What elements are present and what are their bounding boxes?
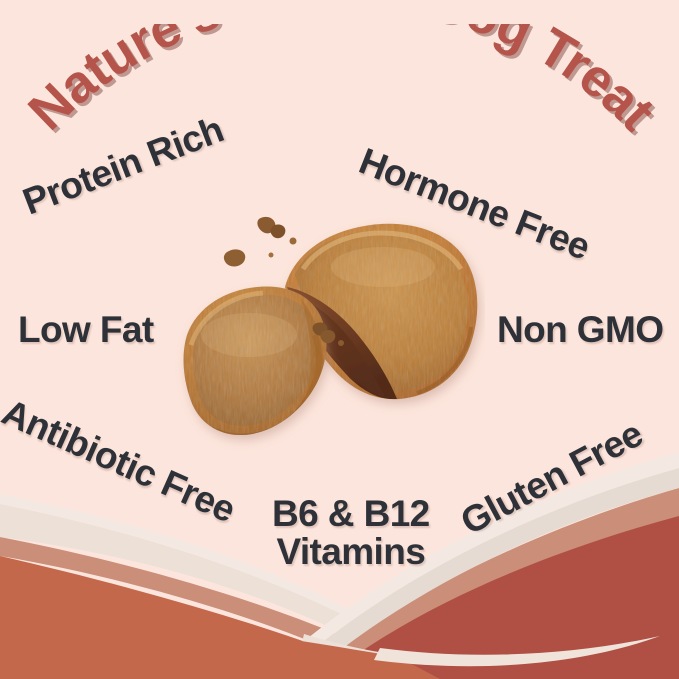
crumb-7 [338,340,344,346]
feature-label-vitamins-line1: B6 & B12 [272,495,430,533]
broken-dog-treat-photo [175,195,485,485]
band-center-ribbon [300,634,640,678]
product-infographic-poster: Nature's Perfect Dog Treat Nature's Perf… [0,0,679,679]
feature-label-non-gmo: Non GMO [497,311,663,349]
band-terracotta-left [0,556,400,679]
crumb-3 [224,249,245,266]
page-title-textpath: Nature's Perfect Dog Treat [17,24,665,142]
band-cream-accent-bottom [374,636,660,666]
feature-label-vitamins-line2: Vitamins [272,533,430,571]
feature-label-low-fat: Low Fat [18,311,154,349]
page-title-main: Nature's Perfect Dog Treat [17,24,665,142]
crumb-6 [290,238,297,245]
product-image [175,195,485,485]
treat-large-sheen [331,247,435,287]
crumb-8 [269,253,274,258]
crumb-2 [271,224,286,238]
band-brick-arrow [404,636,679,679]
treat-small-sheen [201,313,297,357]
band-terracotta-bottom [0,600,520,679]
feature-label-vitamins: B6 & B12 Vitamins [272,495,430,570]
